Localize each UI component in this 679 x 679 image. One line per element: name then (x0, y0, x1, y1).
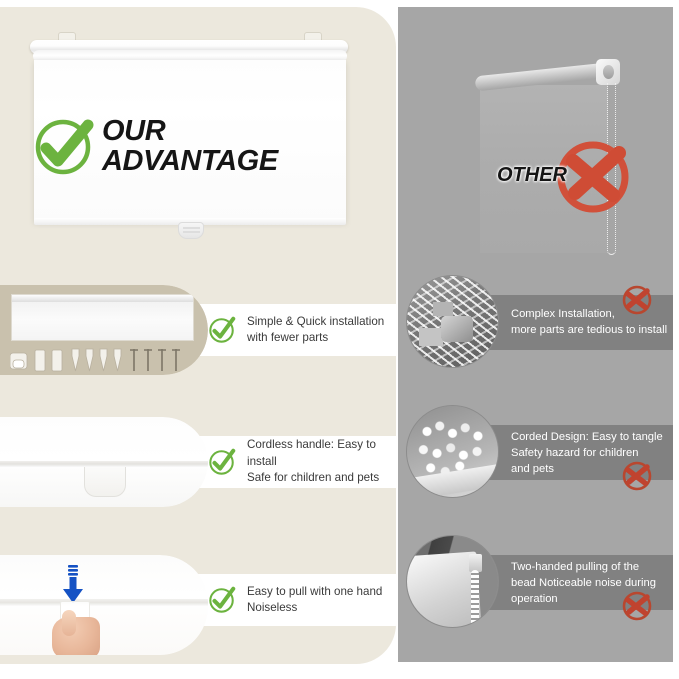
advantage-feature-text-3: Easy to pull with one hand Noiseless (208, 574, 382, 626)
bead-chain-bar-texture (407, 536, 498, 627)
parts-kit-card (0, 285, 208, 375)
advantage-feature-row-2: Cordless handle: Easy to install Safe fo… (0, 417, 396, 507)
tangled-beads-texture (407, 406, 498, 497)
other-title: OTHER (497, 164, 567, 187)
bead-chain (471, 570, 479, 628)
check-circle-icon (32, 115, 96, 179)
feature-label: Easy to pull with one hand Noiseless (247, 584, 382, 617)
other-feature-row-3: Two-handed pulling of the bead Noticeabl… (398, 535, 673, 630)
hand (52, 617, 100, 655)
installation-parts-icons (10, 347, 185, 373)
advantage-feature-row-3: Easy to pull with one hand Noiseless (0, 555, 396, 655)
advantage-feature-text-2: Cordless handle: Easy to install Safe fo… (208, 436, 396, 488)
other-feature-photo-2 (406, 405, 499, 498)
advantage-title: OUR ADVANTAGE (102, 117, 278, 177)
handle-grip (84, 467, 126, 497)
x-circle-icon (620, 459, 654, 493)
feature-label: Cordless handle: Easy to install Safe fo… (247, 437, 396, 486)
x-circle-icon (620, 283, 654, 317)
other-panel: OTHER Complex Installation, more parts a… (398, 7, 673, 662)
advantage-feature-photo-2 (0, 417, 208, 507)
advantage-feature-photo-1 (0, 285, 208, 375)
thumb (62, 610, 76, 636)
scattered-parts-texture (407, 276, 498, 367)
down-arrow-icon (62, 565, 84, 603)
advantage-feature-text-1: Simple & Quick installation with fewer p… (208, 304, 384, 356)
other-feature-row-2: Corded Design: Easy to tangle Safety haz… (398, 405, 673, 500)
other-feature-row-1: Complex Installation, more parts are ted… (398, 275, 673, 370)
check-circle-icon (208, 316, 236, 344)
advantage-feature-photo-3 (0, 555, 208, 655)
x-circle-icon (620, 589, 654, 623)
comparison-infographic: OUR ADVANTAGE (0, 0, 679, 679)
cordless-handle-photo (0, 417, 208, 507)
blind-cordless-handle (178, 222, 204, 239)
chain-mechanism-endcap (596, 59, 620, 85)
advantage-feature-row-1: Simple & Quick installation with fewer p… (0, 285, 396, 375)
feature-label: Simple & Quick installation with fewer p… (247, 314, 384, 347)
advantage-panel: OUR ADVANTAGE (0, 7, 396, 664)
other-badge: OTHER (497, 133, 635, 217)
hand-pull-photo (0, 555, 208, 655)
advantage-badge: OUR ADVANTAGE (32, 115, 278, 179)
check-circle-icon (208, 448, 236, 476)
check-circle-icon (208, 586, 236, 614)
other-feature-photo-1 (406, 275, 499, 368)
blind-bottom-bar (0, 599, 208, 606)
other-feature-photo-3 (406, 535, 499, 628)
kit-blind-thumbnail (11, 294, 194, 341)
